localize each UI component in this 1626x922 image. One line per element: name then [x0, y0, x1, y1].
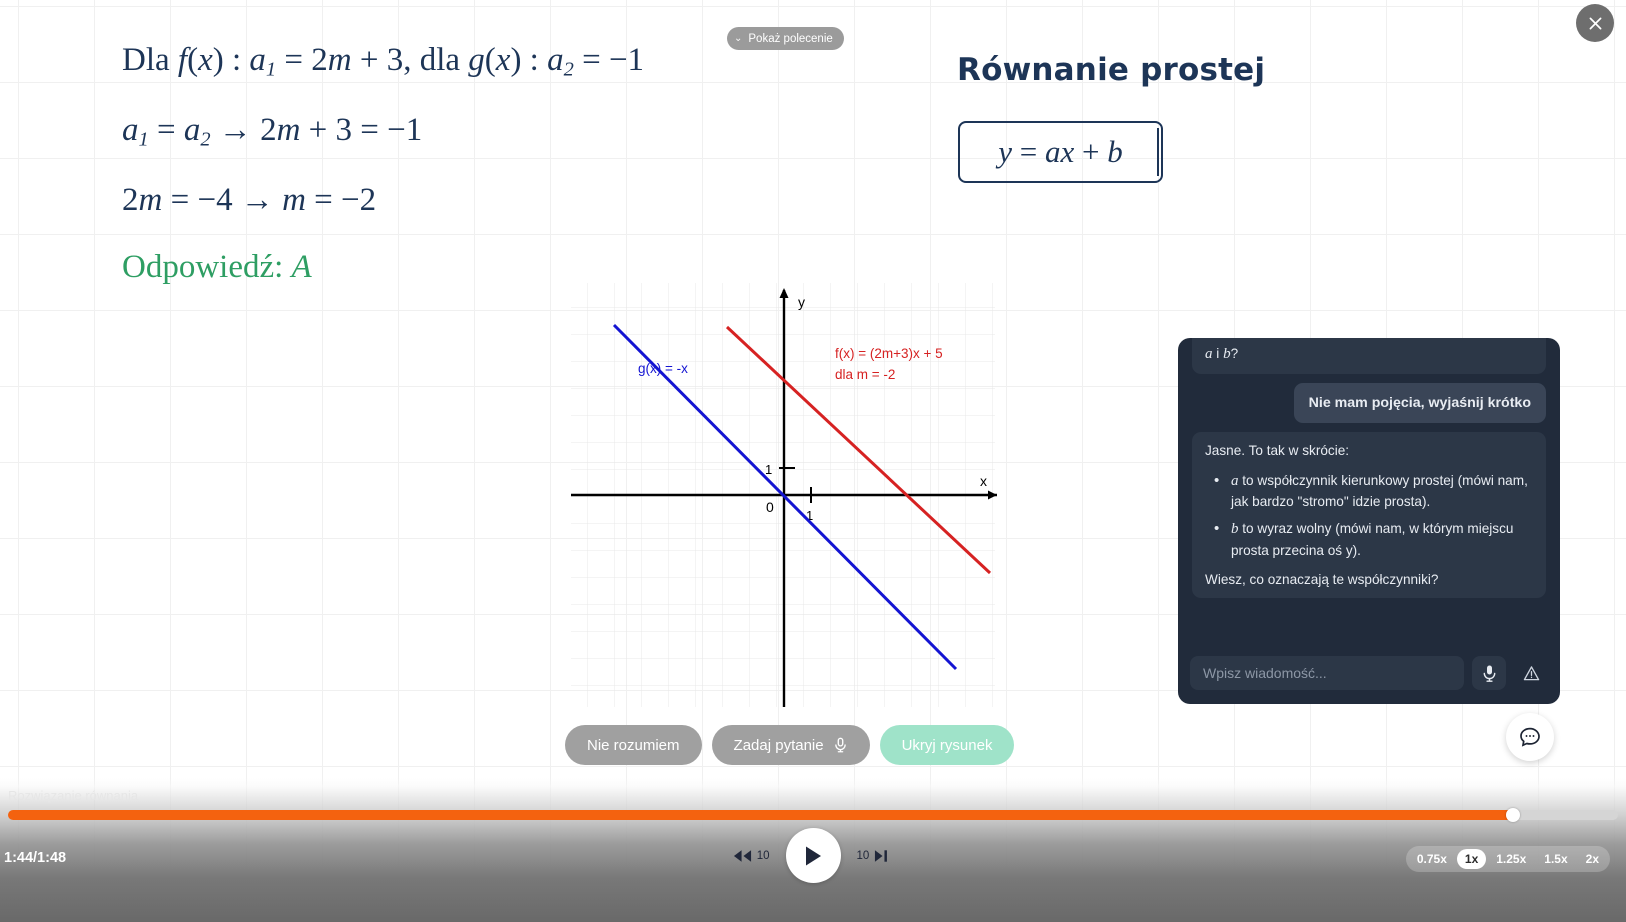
dont-understand-button[interactable]: Nie rozumiem [565, 725, 702, 765]
speed-option-1-25x[interactable]: 1.25x [1488, 849, 1534, 869]
forward-10-icon[interactable]: 10 [857, 849, 894, 863]
rewind-10-icon[interactable]: 10 [733, 849, 770, 863]
function-graph: y x 0 1 1 g(x) = -x f(x) = (2m+3)x + 5 d… [560, 280, 1010, 710]
app-root: ⌄ Pokaż polecenie Dla f(x) : a1 = 2m + 3… [0, 0, 1626, 922]
progress-knob[interactable] [1506, 808, 1520, 822]
close-icon[interactable] [1576, 4, 1614, 42]
chat-panel: a i b? Nie mam pojęcia, wyjaśnij krótko … [1178, 338, 1560, 704]
play-button[interactable] [786, 828, 841, 883]
assistant-bullets: a to współczynnik kierunkowy prostej (mó… [1205, 471, 1533, 560]
show-command-label: Pokaż polecenie [748, 33, 832, 45]
y-one-label: 1 [765, 462, 772, 477]
chevron-down-icon: ⌄ [734, 34, 742, 44]
chat-messages: a i b? Nie mam pojęcia, wyjaśnij krótko … [1178, 338, 1560, 646]
series-label-f-line2: dla m = -2 [835, 367, 895, 382]
chat-input[interactable] [1190, 656, 1464, 690]
series-label-g: g(x) = -x [638, 361, 688, 376]
chat-message-assistant: Jasne. To tak w skrócie: a to współczynn… [1192, 432, 1546, 598]
speed-option-0-75x[interactable]: 0.75x [1409, 849, 1455, 869]
transport-controls: 10 10 [0, 828, 1626, 883]
assistant-bullet-a: a to współczynnik kierunkowy prostej (mó… [1205, 471, 1533, 512]
graph-svg: y x 0 1 1 g(x) = -x f(x) = (2m+3)x + 5 d… [560, 280, 1010, 710]
y-axis-label: y [798, 294, 805, 310]
text-caret [1157, 128, 1159, 176]
assistant-outro: Wiesz, co oznaczają te współczynniki? [1205, 570, 1533, 589]
solution-steps: Dla f(x) : a1 = 2m + 3, dla g(x) : a2 = … [122, 44, 922, 284]
concept-title: Równanie prostej [957, 52, 1265, 88]
speed-option-1x[interactable]: 1x [1457, 849, 1486, 869]
forward-seconds: 10 [857, 850, 870, 862]
microphone-icon[interactable] [1472, 656, 1506, 690]
series-label-f-line1: f(x) = (2m+3)x + 5 [835, 346, 943, 361]
progress-bar[interactable] [8, 810, 1618, 820]
x-axis-label: x [980, 473, 987, 489]
concept-formula: y = ax + b [998, 134, 1123, 170]
alert-triangle-icon[interactable] [1514, 656, 1548, 690]
hide-drawing-button[interactable]: Ukryj rysunek [880, 725, 1015, 765]
chat-message-user: Nie mam pojęcia, wyjaśnij krótko [1294, 383, 1546, 423]
concept-formula-box: y = ax + b [958, 121, 1163, 183]
action-buttons: Nie rozumiem Zadaj pytanie Ukryj rysunek [565, 725, 1014, 765]
assistant-intro: Jasne. To tak w skrócie: [1205, 441, 1533, 460]
rewind-seconds: 10 [757, 850, 770, 862]
show-command-button[interactable]: ⌄ Pokaż polecenie [727, 27, 844, 50]
playback-speed-group: 0.75x 1x 1.25x 1.5x 2x [1406, 846, 1610, 872]
chat-bubble-icon[interactable] [1506, 713, 1554, 761]
speed-option-2x[interactable]: 2x [1578, 849, 1607, 869]
play-icon [803, 845, 823, 867]
microphone-icon [833, 737, 848, 753]
ask-question-button[interactable]: Zadaj pytanie [712, 725, 870, 765]
speed-option-1-5x[interactable]: 1.5x [1536, 849, 1575, 869]
chat-message-assistant-partial: a i b? [1192, 338, 1546, 374]
chat-input-row [1178, 646, 1560, 704]
origin-label: 0 [766, 499, 774, 515]
solution-step-3: 2m = −4 → m = −2 [122, 184, 922, 217]
solution-step-2: a1 = a2 → 2m + 3 = −1 [122, 114, 922, 150]
progress-fill [8, 810, 1513, 820]
assistant-bullet-b: b to wyraz wolny (mówi nam, w którym mie… [1205, 519, 1533, 560]
player-title: Rozwiązanie równania [8, 788, 138, 803]
